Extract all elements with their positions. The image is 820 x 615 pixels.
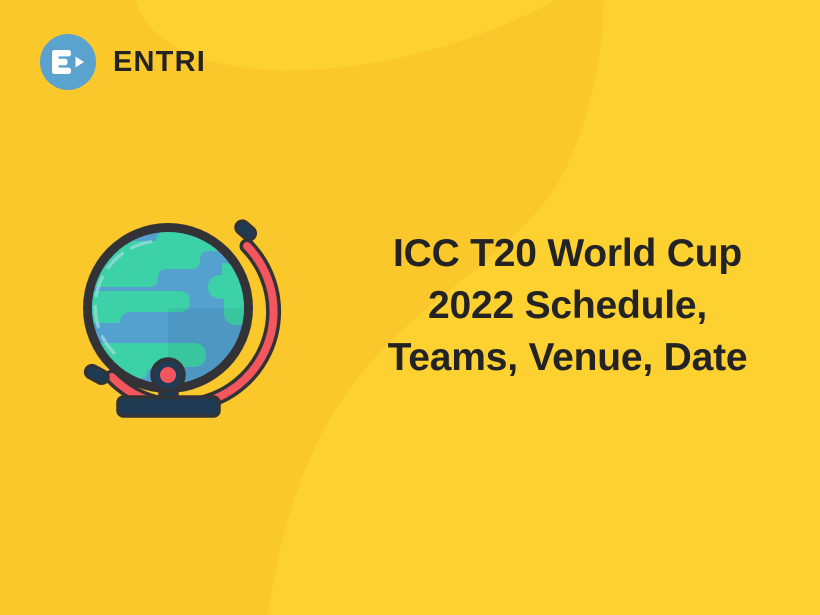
title-line-2: 2022 Schedule, — [355, 280, 780, 332]
title-line-3: Teams, Venue, Date — [355, 332, 780, 384]
brand-lockup: ENTRI — [40, 34, 206, 90]
brand-name-text: ENTRI — [113, 48, 206, 77]
page-title: ICC T20 World Cup 2022 Schedule, Teams, … — [355, 228, 780, 384]
globe-illustration — [72, 205, 287, 430]
entri-logo-mark — [40, 34, 96, 90]
entri-play-e-icon — [51, 47, 85, 77]
title-line-1: ICC T20 World Cup — [355, 228, 780, 280]
promo-banner: ENTRI — [0, 0, 820, 615]
